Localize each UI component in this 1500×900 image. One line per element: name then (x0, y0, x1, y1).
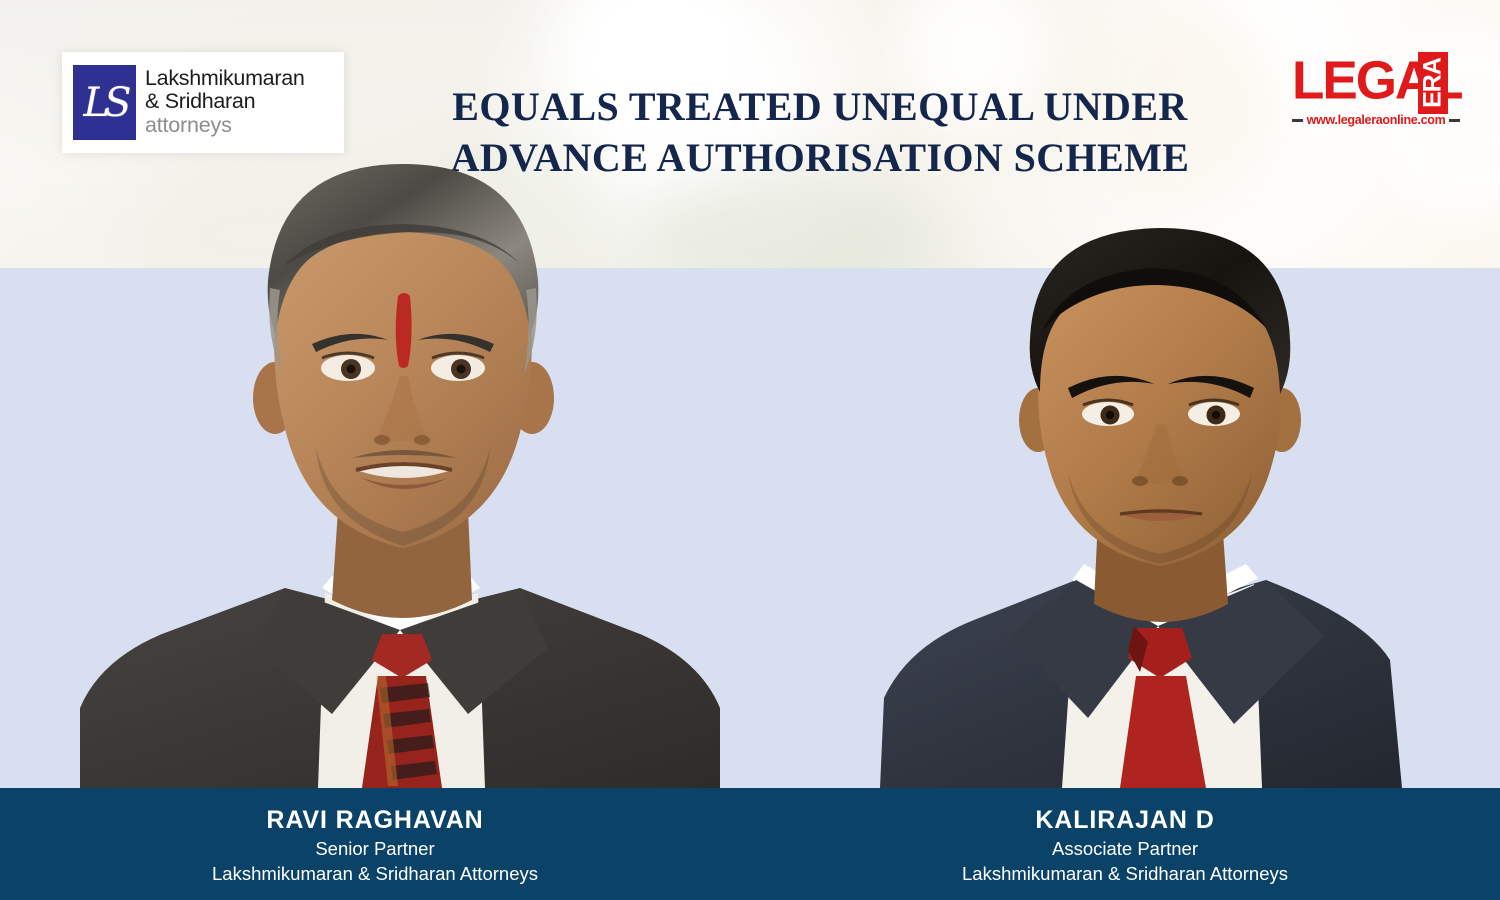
legal-era-logo[interactable]: LEGAL ERA www.legaleraonline.com (1292, 54, 1464, 136)
speaker-name: RAVI RAGHAVAN (266, 806, 483, 836)
nostril-right (1172, 476, 1188, 486)
firm-name-line-3: attorneys (145, 115, 305, 137)
speaker-role: Senior Partner (315, 837, 434, 862)
pupil-left (1106, 411, 1114, 419)
speaker-card-left: RAVI RAGHAVAN Senior Partner Lakshmikuma… (0, 788, 750, 900)
legal-era-url-row: www.legaleraonline.com (1292, 113, 1460, 127)
firm-logo[interactable]: LS Lakshmikumaran & Sridharan attorneys (62, 52, 344, 153)
firm-logo-text: Lakshmikumaran & Sridharan attorneys (145, 68, 305, 137)
tilak-mark (396, 293, 412, 368)
speaker-name: KALIRAJAN D (1035, 806, 1214, 836)
speaker-card-right: KALIRAJAN D Associate Partner Lakshmikum… (750, 788, 1500, 900)
article-banner-graphic: LS Lakshmikumaran & Sridharan attorneys … (0, 0, 1500, 900)
legal-era-era-label: ERA (1419, 58, 1448, 108)
speaker-firm: Lakshmikumaran & Sridharan Attorneys (962, 862, 1288, 887)
speaker-firm: Lakshmikumaran & Sridharan Attorneys (212, 862, 538, 887)
portrait-photo-kalirajan-d (862, 228, 1422, 788)
legal-era-era-block: ERA (1418, 52, 1448, 114)
firm-monogram-label: LS (73, 65, 136, 140)
speaker-role: Associate Partner (1052, 837, 1198, 862)
firm-name-line-1: Lakshmikumaran (145, 68, 305, 90)
firm-monogram-icon: LS (73, 65, 136, 140)
headline-line-1: EQUALS TREATED UNEQUAL UNDER (380, 82, 1260, 133)
pupil-left (347, 365, 356, 374)
nostril-left (1132, 476, 1148, 486)
nostril-right (414, 435, 430, 445)
rule-right (1449, 119, 1460, 122)
speaker-name-bar: RAVI RAGHAVAN Senior Partner Lakshmikuma… (0, 788, 1500, 900)
nostril-left (374, 435, 390, 445)
legal-era-url: www.legaleraonline.com (1307, 113, 1446, 127)
firm-name-line-2: & Sridharan (145, 91, 305, 113)
portrait-left-svg (70, 148, 730, 788)
pupil-right (1212, 411, 1220, 419)
portrait-right-svg (862, 228, 1422, 788)
portrait-photo-ravi-raghavan (70, 148, 730, 788)
rule-left (1292, 119, 1303, 122)
pupil-right (457, 365, 466, 374)
